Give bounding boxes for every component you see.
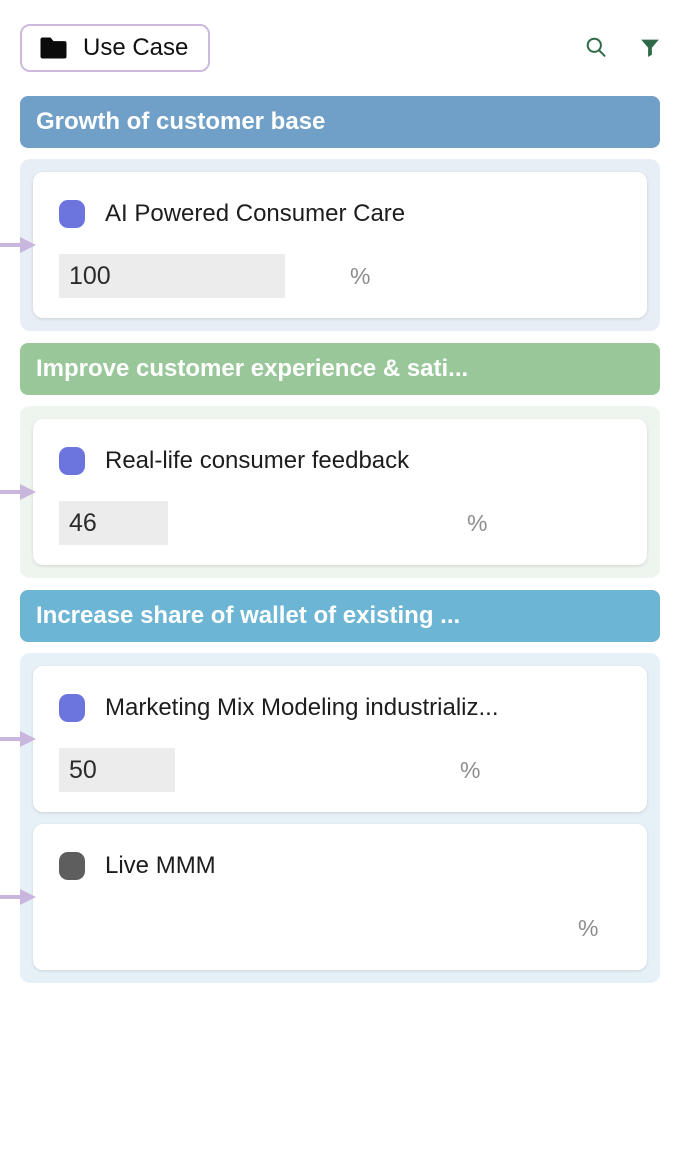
card-title-row: AI Powered Consumer Care [59,194,621,234]
filter-icon [638,35,662,62]
use-case-card[interactable]: AI Powered Consumer Care% [33,172,647,318]
section-header-title: Improve customer experience & sati... [36,357,468,381]
percent-value-input[interactable] [59,501,168,545]
card-title: Marketing Mix Modeling industrializ... [105,696,498,720]
card-value-row: % [59,748,621,792]
section-header[interactable]: Improve customer experience & sati... [20,343,660,395]
card-title-row: Live MMM [59,846,621,886]
card-value-row: % [59,254,621,298]
use-case-card[interactable]: Marketing Mix Modeling industrializ...% [33,666,647,812]
status-dot-icon [59,852,85,880]
percent-unit-label: % [460,759,480,782]
status-dot-icon [59,694,85,722]
folder-icon [40,37,67,59]
section: Improve customer experience & sati...Rea… [0,343,688,578]
card-title-row: Real-life consumer feedback [59,441,621,481]
use-case-card[interactable]: Real-life consumer feedback% [33,419,647,565]
top-toolbar: Use Case [0,0,688,96]
section-body: AI Powered Consumer Care% [20,159,660,331]
card-title: Real-life consumer feedback [105,449,409,473]
status-dot-icon [59,200,85,228]
status-dot-icon [59,447,85,475]
sections-list: Growth of customer baseAI Powered Consum… [0,96,688,983]
section-header[interactable]: Growth of customer base [20,96,660,148]
search-icon [584,35,608,62]
card-title: AI Powered Consumer Care [105,202,405,226]
section: Increase share of wallet of existing ...… [0,590,688,983]
section-header-title: Growth of customer base [36,110,325,134]
card-value-row: % [59,501,621,545]
percent-value-placeholder [59,906,285,950]
use-case-card[interactable]: Live MMM% [33,824,647,970]
section-header-title: Increase share of wallet of existing ... [36,604,460,628]
section-body: Marketing Mix Modeling industrializ...%L… [20,653,660,983]
search-button[interactable] [582,34,610,62]
use-case-chip-label: Use Case [83,36,188,60]
card-title: Live MMM [105,854,216,878]
section-body: Real-life consumer feedback% [20,406,660,578]
card-title-row: Marketing Mix Modeling industrializ... [59,688,621,728]
percent-unit-label: % [350,265,370,288]
card-value-row: % [59,906,621,950]
section-header[interactable]: Increase share of wallet of existing ... [20,590,660,642]
percent-value-input[interactable] [59,748,175,792]
use-case-chip[interactable]: Use Case [20,24,210,72]
percent-unit-label: % [467,512,487,535]
section: Growth of customer baseAI Powered Consum… [0,96,688,331]
toolbar-actions [582,34,664,62]
percent-value-input[interactable] [59,254,285,298]
percent-unit-label: % [578,917,598,940]
filter-button[interactable] [636,34,664,62]
